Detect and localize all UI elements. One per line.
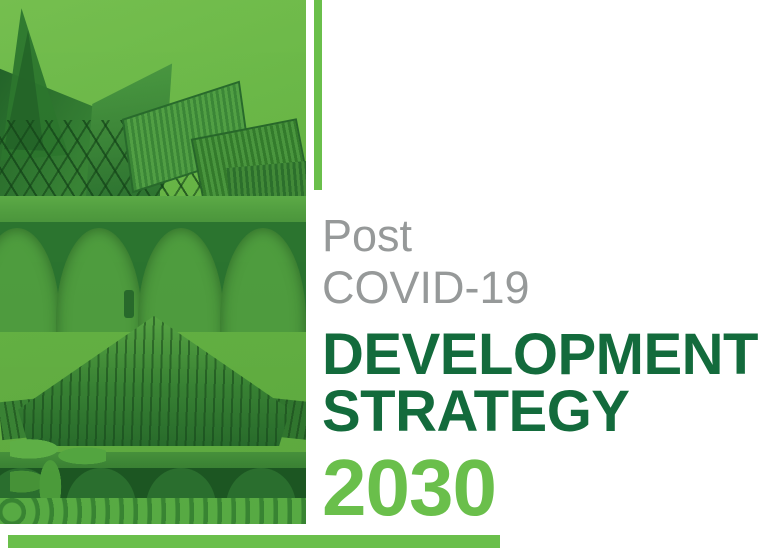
title-line-year: 2030 <box>322 446 742 530</box>
cover-title-block: Post COVID-19 DEVELOPMENT STRATEGY 2030 <box>322 210 742 530</box>
photo-green-duotone-overlay <box>0 0 306 524</box>
report-cover-page: Post COVID-19 DEVELOPMENT STRATEGY 2030 <box>0 0 761 549</box>
horizontal-accent-bar <box>8 535 500 548</box>
vertical-accent-bar <box>314 0 322 190</box>
cover-photo <box>0 0 306 524</box>
title-line-development: DEVELOPMENT <box>322 326 742 383</box>
title-line-post: Post <box>322 210 742 262</box>
title-line-covid: COVID-19 <box>322 262 742 314</box>
title-line-strategy: STRATEGY <box>322 383 742 440</box>
